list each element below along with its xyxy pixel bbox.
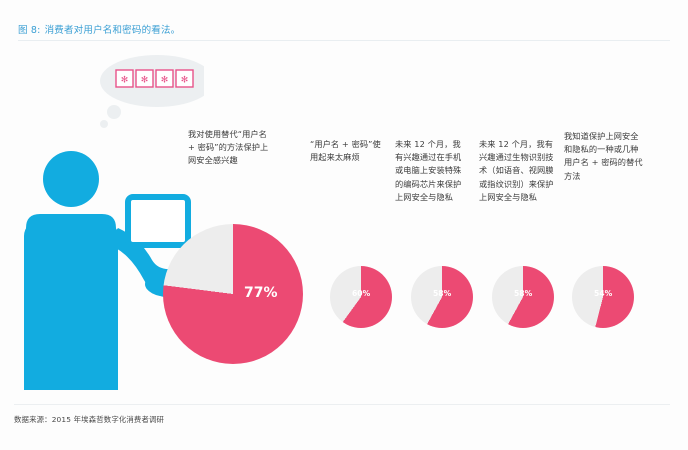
- statement-text-1: “用户名 + 密码”使用起来太麻烦: [310, 138, 382, 164]
- statement-text-4: 我知道保护上网安全和隐私的一种或几种用户名 + 密码的替代方法: [564, 130, 646, 183]
- pie-chart-4: [572, 266, 634, 328]
- footer-divider: [14, 404, 670, 405]
- statement-text-0: 我对使用替代“用户名 + 密码”的方法保护上网安全感兴趣: [188, 128, 274, 168]
- statement-text-2: 未来 12 个月，我有兴趣通过在手机或电脑上安装特殊的编码芯片来保护上网安全与隐…: [395, 138, 467, 204]
- svg-text:✻: ✻: [141, 76, 149, 86]
- svg-text:✻: ✻: [181, 76, 189, 86]
- figure-title-text: 消费者对用户名和密码的看法。: [45, 22, 181, 36]
- svg-text:✻: ✻: [121, 76, 129, 86]
- figure-title: 图 8: 消费者对用户名和密码的看法。: [18, 22, 180, 36]
- pie-chart-2: [411, 266, 473, 328]
- pie-chart-0: [163, 224, 303, 364]
- svg-text:✻: ✻: [161, 76, 169, 86]
- figure-number: 图 8:: [18, 22, 41, 36]
- pie-chart-1: [330, 266, 392, 328]
- title-divider: [18, 40, 670, 41]
- illustration-area: ✻ ✻ ✻ ✻: [14, 48, 204, 393]
- tablet-device: [128, 197, 188, 245]
- infographic-page: 图 8: 消费者对用户名和密码的看法。 ✻ ✻ ✻ ✻: [0, 0, 688, 450]
- pie-chart-3: [492, 266, 554, 328]
- statement-text-3: 未来 12 个月，我有兴趣通过生物识别技术（如语音、视网膜或指纹识别）来保护上网…: [479, 138, 555, 204]
- source-note: 数据来源：2015 年埃森哲数字化消费者调研: [14, 414, 164, 425]
- thought-bubble: [100, 55, 204, 128]
